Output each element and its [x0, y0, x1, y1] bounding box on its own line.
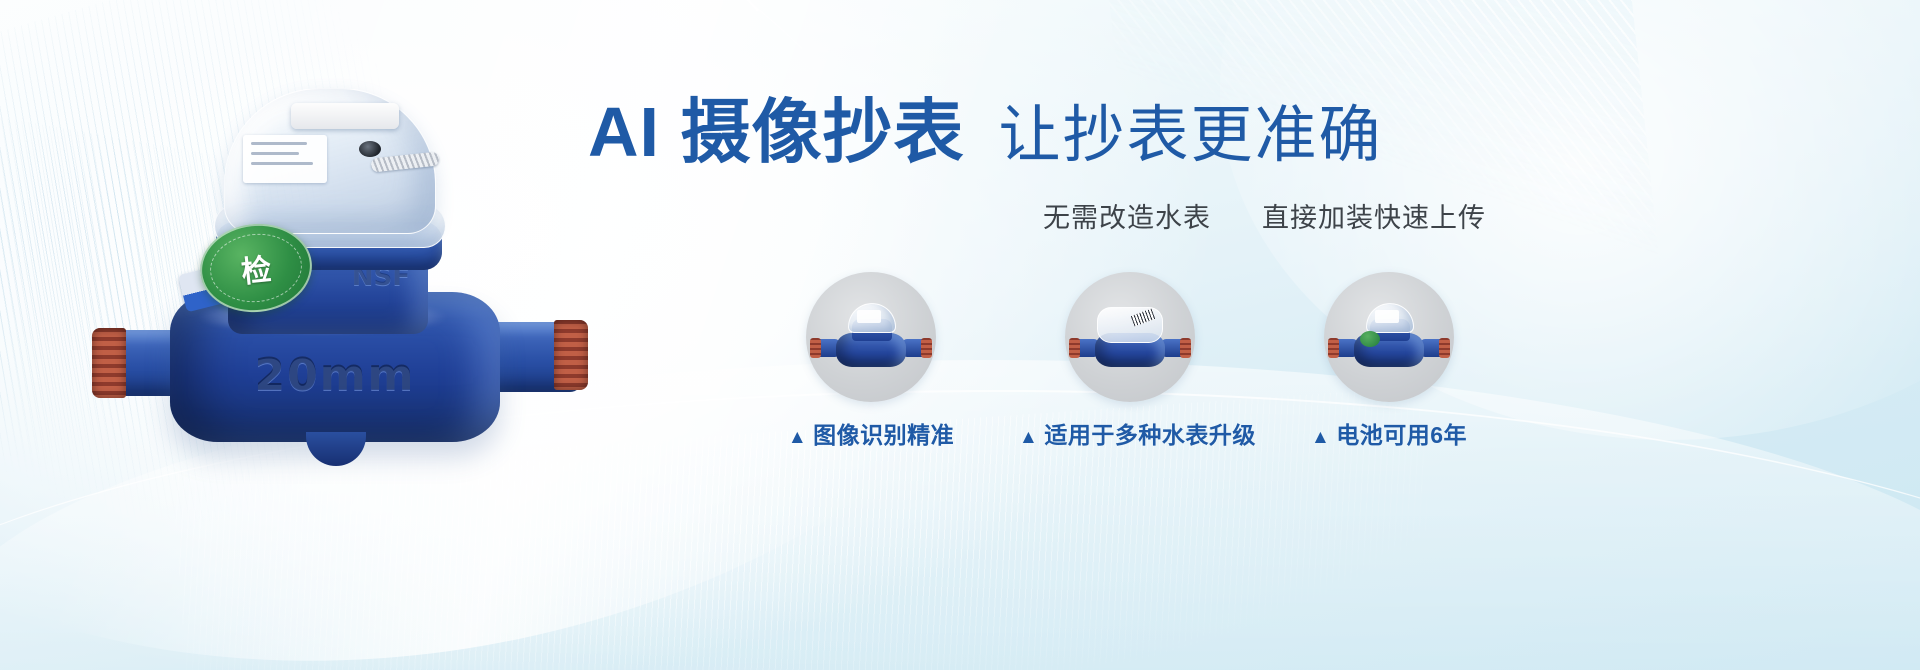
- triangle-marker-icon: ▲: [788, 427, 807, 448]
- antenna-coil: [370, 151, 439, 172]
- subheadline: 无需改造水表 直接加装快速上传: [588, 196, 1488, 235]
- mini-spec-label: [857, 310, 881, 323]
- mini-spec-label: [1375, 310, 1399, 323]
- meter-base-foot: [306, 432, 366, 466]
- feature-caption-1: ▲图像识别精准: [760, 416, 982, 450]
- mini-outlet-thread: [1439, 338, 1450, 358]
- water-meter-thumbnail-1: [806, 272, 936, 402]
- feature-caption-2: ▲适用于多种水表升级: [1019, 416, 1241, 450]
- mini-inlet-thread: [1069, 338, 1080, 358]
- mini-outlet-thread: [921, 338, 932, 358]
- headline-main: AI 摄像抄表: [588, 96, 964, 170]
- meter-transparent-cap: [224, 88, 436, 234]
- camera-module: [291, 103, 399, 129]
- subheadline-left: 无需改造水表: [1043, 203, 1211, 233]
- subheadline-right: 直接加装快速上传: [1262, 203, 1486, 233]
- feature-item-meter-compatibility[interactable]: ▲适用于多种水表升级: [1019, 272, 1241, 450]
- headline-secondary: 让抄表更准确: [998, 103, 1382, 168]
- mini-meter-graphic: [1330, 311, 1448, 373]
- mini-inspection-seal: [1360, 331, 1380, 347]
- feature-caption-text-3: 电池可用6年: [1336, 422, 1467, 448]
- feature-caption-3: ▲电池可用6年: [1278, 416, 1500, 450]
- headline: AI 摄像抄表 让抄表更准确: [588, 96, 1488, 170]
- mini-meter-graphic: [812, 311, 930, 373]
- camera-lens-icon: [359, 141, 381, 157]
- feature-item-image-recognition[interactable]: ▲图像识别精准: [760, 272, 982, 450]
- hero-product-image: 检: [78, 72, 598, 502]
- mini-transparent-housing: [1097, 307, 1163, 343]
- triangle-marker-icon: ▲: [1311, 427, 1330, 448]
- mini-outlet-thread: [1180, 338, 1191, 358]
- barcode-sticker: [1131, 309, 1155, 327]
- copy-block: AI 摄像抄表 让抄表更准确 无需改造水表 直接加装快速上传: [588, 96, 1488, 235]
- feature-item-battery-life[interactable]: ▲电池可用6年: [1278, 272, 1500, 450]
- mini-meter-cap: [848, 303, 896, 333]
- mini-meter-cap: [1366, 303, 1414, 333]
- triangle-marker-icon: ▲: [1019, 427, 1038, 448]
- mini-inlet-thread: [810, 338, 821, 358]
- inlet-thread: [92, 328, 126, 398]
- water-meter-thumbnail-2: [1065, 272, 1195, 402]
- water-meter-thumbnail-3: [1324, 272, 1454, 402]
- mini-inlet-thread: [1328, 338, 1339, 358]
- mini-meter-graphic: [1071, 311, 1189, 373]
- feature-caption-text-1: 图像识别精准: [813, 422, 954, 448]
- promo-banner: 检 AI 摄像抄表 让抄表更准确 无需改造水表 直接加装快速上传: [0, 0, 1920, 670]
- seal-label: 检: [239, 245, 273, 292]
- outlet-thread: [554, 320, 588, 390]
- feature-list: ▲图像识别精准 ▲适用于多种水表升级: [760, 272, 1500, 450]
- spec-label: [243, 135, 327, 183]
- feature-caption-text-2: 适用于多种水表升级: [1044, 422, 1256, 448]
